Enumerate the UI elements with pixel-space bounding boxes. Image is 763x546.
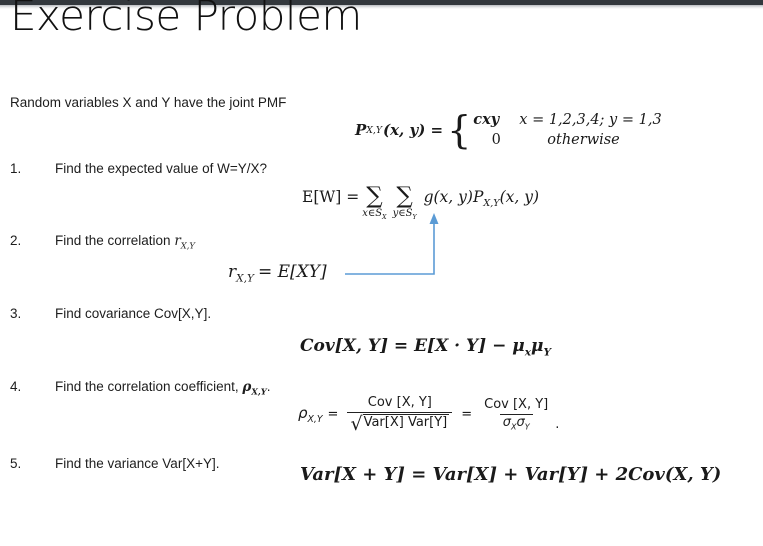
summation-y: ∑ y∈SY bbox=[393, 185, 417, 221]
item-5-text: Find the variance Var[X+Y]. bbox=[55, 456, 219, 471]
item-5-number: 5. bbox=[10, 456, 21, 471]
pmf-formula: PX,Y(x, y) = { cxy x = 1,2,3,4; y = 1,3 … bbox=[355, 110, 662, 150]
rho-fraction-2: Cov [X, Y] σXσY bbox=[481, 398, 551, 432]
sqrt-group: √ Var[X] Var[Y] bbox=[350, 414, 449, 433]
rho-lhs: ρ bbox=[298, 404, 308, 422]
rho-eq-2: = bbox=[461, 407, 472, 422]
sigma-x: σ bbox=[503, 415, 511, 430]
ew-body-wrap: g(x, y)PX,Y(x, y) bbox=[424, 188, 539, 209]
item-3-text: Find covariance Cov[X,Y]. bbox=[55, 306, 211, 321]
ew-lhs: E[W] = bbox=[302, 188, 359, 206]
rho-fraction-1: Cov [X, Y] √ Var[X] Var[Y] bbox=[347, 396, 452, 434]
rxy-lhs: r bbox=[228, 262, 236, 282]
ew-body-args: (x, y) bbox=[500, 188, 539, 206]
intro-text: Random variables X and Y have the joint … bbox=[10, 95, 286, 110]
cov-lhs: Cov[X, Y] = E[X · Y] − μ bbox=[300, 336, 525, 356]
slide-canvas: Exercise Problem Random variables X and … bbox=[0, 0, 763, 546]
rxy-lhs-sub: X,Y bbox=[236, 272, 254, 284]
rho-den-1-text: Var[X] Var[Y] bbox=[363, 414, 450, 433]
pmf-case1-value: cxy bbox=[473, 110, 519, 130]
pmf-case2-value: 0 bbox=[473, 131, 519, 151]
covariance-formula: Cov[X, Y] = E[X · Y] − μxμY bbox=[300, 336, 551, 358]
summation-x-limit: x∈SX bbox=[362, 209, 386, 221]
item-2-text-prefix: Find the correlation bbox=[55, 233, 174, 248]
variance-sum-formula: Var[X + Y] = Var[X] + Var[Y] + 2Cov(X, Y… bbox=[300, 464, 721, 485]
correlation-coefficient-formula: ρX,Y = Cov [X, Y] √ Var[X] Var[Y] = Cov … bbox=[298, 396, 559, 434]
rho-num-2: Cov [X, Y] bbox=[481, 398, 551, 414]
item-4-symbol-sub: X,Y bbox=[251, 387, 266, 397]
pmf-case-row: 0 otherwise bbox=[473, 131, 661, 151]
rho-lhs-wrap: ρX,Y bbox=[298, 404, 323, 425]
item-2-symbol-sub: X,Y bbox=[181, 241, 195, 251]
sigma-y-sub: Y bbox=[525, 423, 530, 432]
item-4-symbol: ρ bbox=[242, 379, 251, 395]
pmf-lhs-args: (x, y) = bbox=[383, 121, 443, 139]
rho-den-1: √ Var[X] Var[Y] bbox=[347, 412, 452, 434]
item-4-text: Find the correlation coefficient, ρX,Y. bbox=[55, 379, 270, 397]
item-3-number: 3. bbox=[10, 306, 21, 321]
pmf-case-row: cxy x = 1,2,3,4; y = 1,3 bbox=[473, 110, 661, 131]
ew-body: g(x, y)P bbox=[424, 188, 484, 206]
summation-y-limit: y∈SY bbox=[393, 209, 417, 221]
page-title: Exercise Problem bbox=[10, 0, 362, 40]
correlation-formula: rX,Y= E[XY] bbox=[228, 262, 327, 284]
pmf-lhs-sub: X,Y bbox=[366, 125, 382, 136]
item-4-number: 4. bbox=[10, 379, 21, 394]
rho-lhs-sub: X,Y bbox=[308, 414, 323, 425]
pmf-case2-condition: otherwise bbox=[519, 131, 619, 151]
rho-den-2: σXσY bbox=[500, 414, 533, 432]
cov-sub2: Y bbox=[543, 346, 551, 358]
sigma-icon: ∑ bbox=[396, 185, 412, 208]
item-2-number: 2. bbox=[10, 233, 21, 248]
sqrt-icon: √ bbox=[350, 415, 362, 434]
summation-x-limit-text: x∈S bbox=[362, 208, 382, 219]
expected-value-formula: E[W] = ∑ x∈SX ∑ y∈SY g(x, y)PX,Y(x, y) bbox=[302, 188, 539, 224]
pmf-lhs: P bbox=[355, 121, 366, 139]
sigma-y: σ bbox=[516, 415, 524, 430]
rho-eq-1: = bbox=[328, 407, 339, 422]
ew-body-sub: X,Y bbox=[483, 198, 499, 209]
rho-num-1: Cov [X, Y] bbox=[365, 396, 435, 412]
pmf-case1-condition: x = 1,2,3,4; y = 1,3 bbox=[519, 111, 661, 131]
pmf-cases: cxy x = 1,2,3,4; y = 1,3 0 otherwise bbox=[473, 110, 661, 150]
item-4-text-prefix: Find the correlation coefficient, bbox=[55, 379, 242, 394]
item-1-number: 1. bbox=[10, 161, 21, 176]
rho-period: . bbox=[555, 417, 559, 434]
summation-y-limit-text: y∈S bbox=[393, 208, 413, 219]
item-1-text: Find the expected value of W=Y/X? bbox=[55, 161, 267, 176]
brace-icon: { bbox=[447, 115, 471, 145]
cov-mid: μ bbox=[531, 336, 543, 356]
summation-x: ∑ x∈SX bbox=[362, 185, 386, 221]
sigma-icon: ∑ bbox=[366, 185, 382, 208]
summation-x-limit-sub: X bbox=[382, 214, 386, 221]
item-4-text-suffix: . bbox=[267, 379, 271, 394]
summation-y-limit-sub: Y bbox=[412, 214, 416, 221]
rxy-rhs: = E[XY] bbox=[258, 262, 327, 282]
item-2-text: Find the correlation rX,Y bbox=[55, 233, 195, 251]
